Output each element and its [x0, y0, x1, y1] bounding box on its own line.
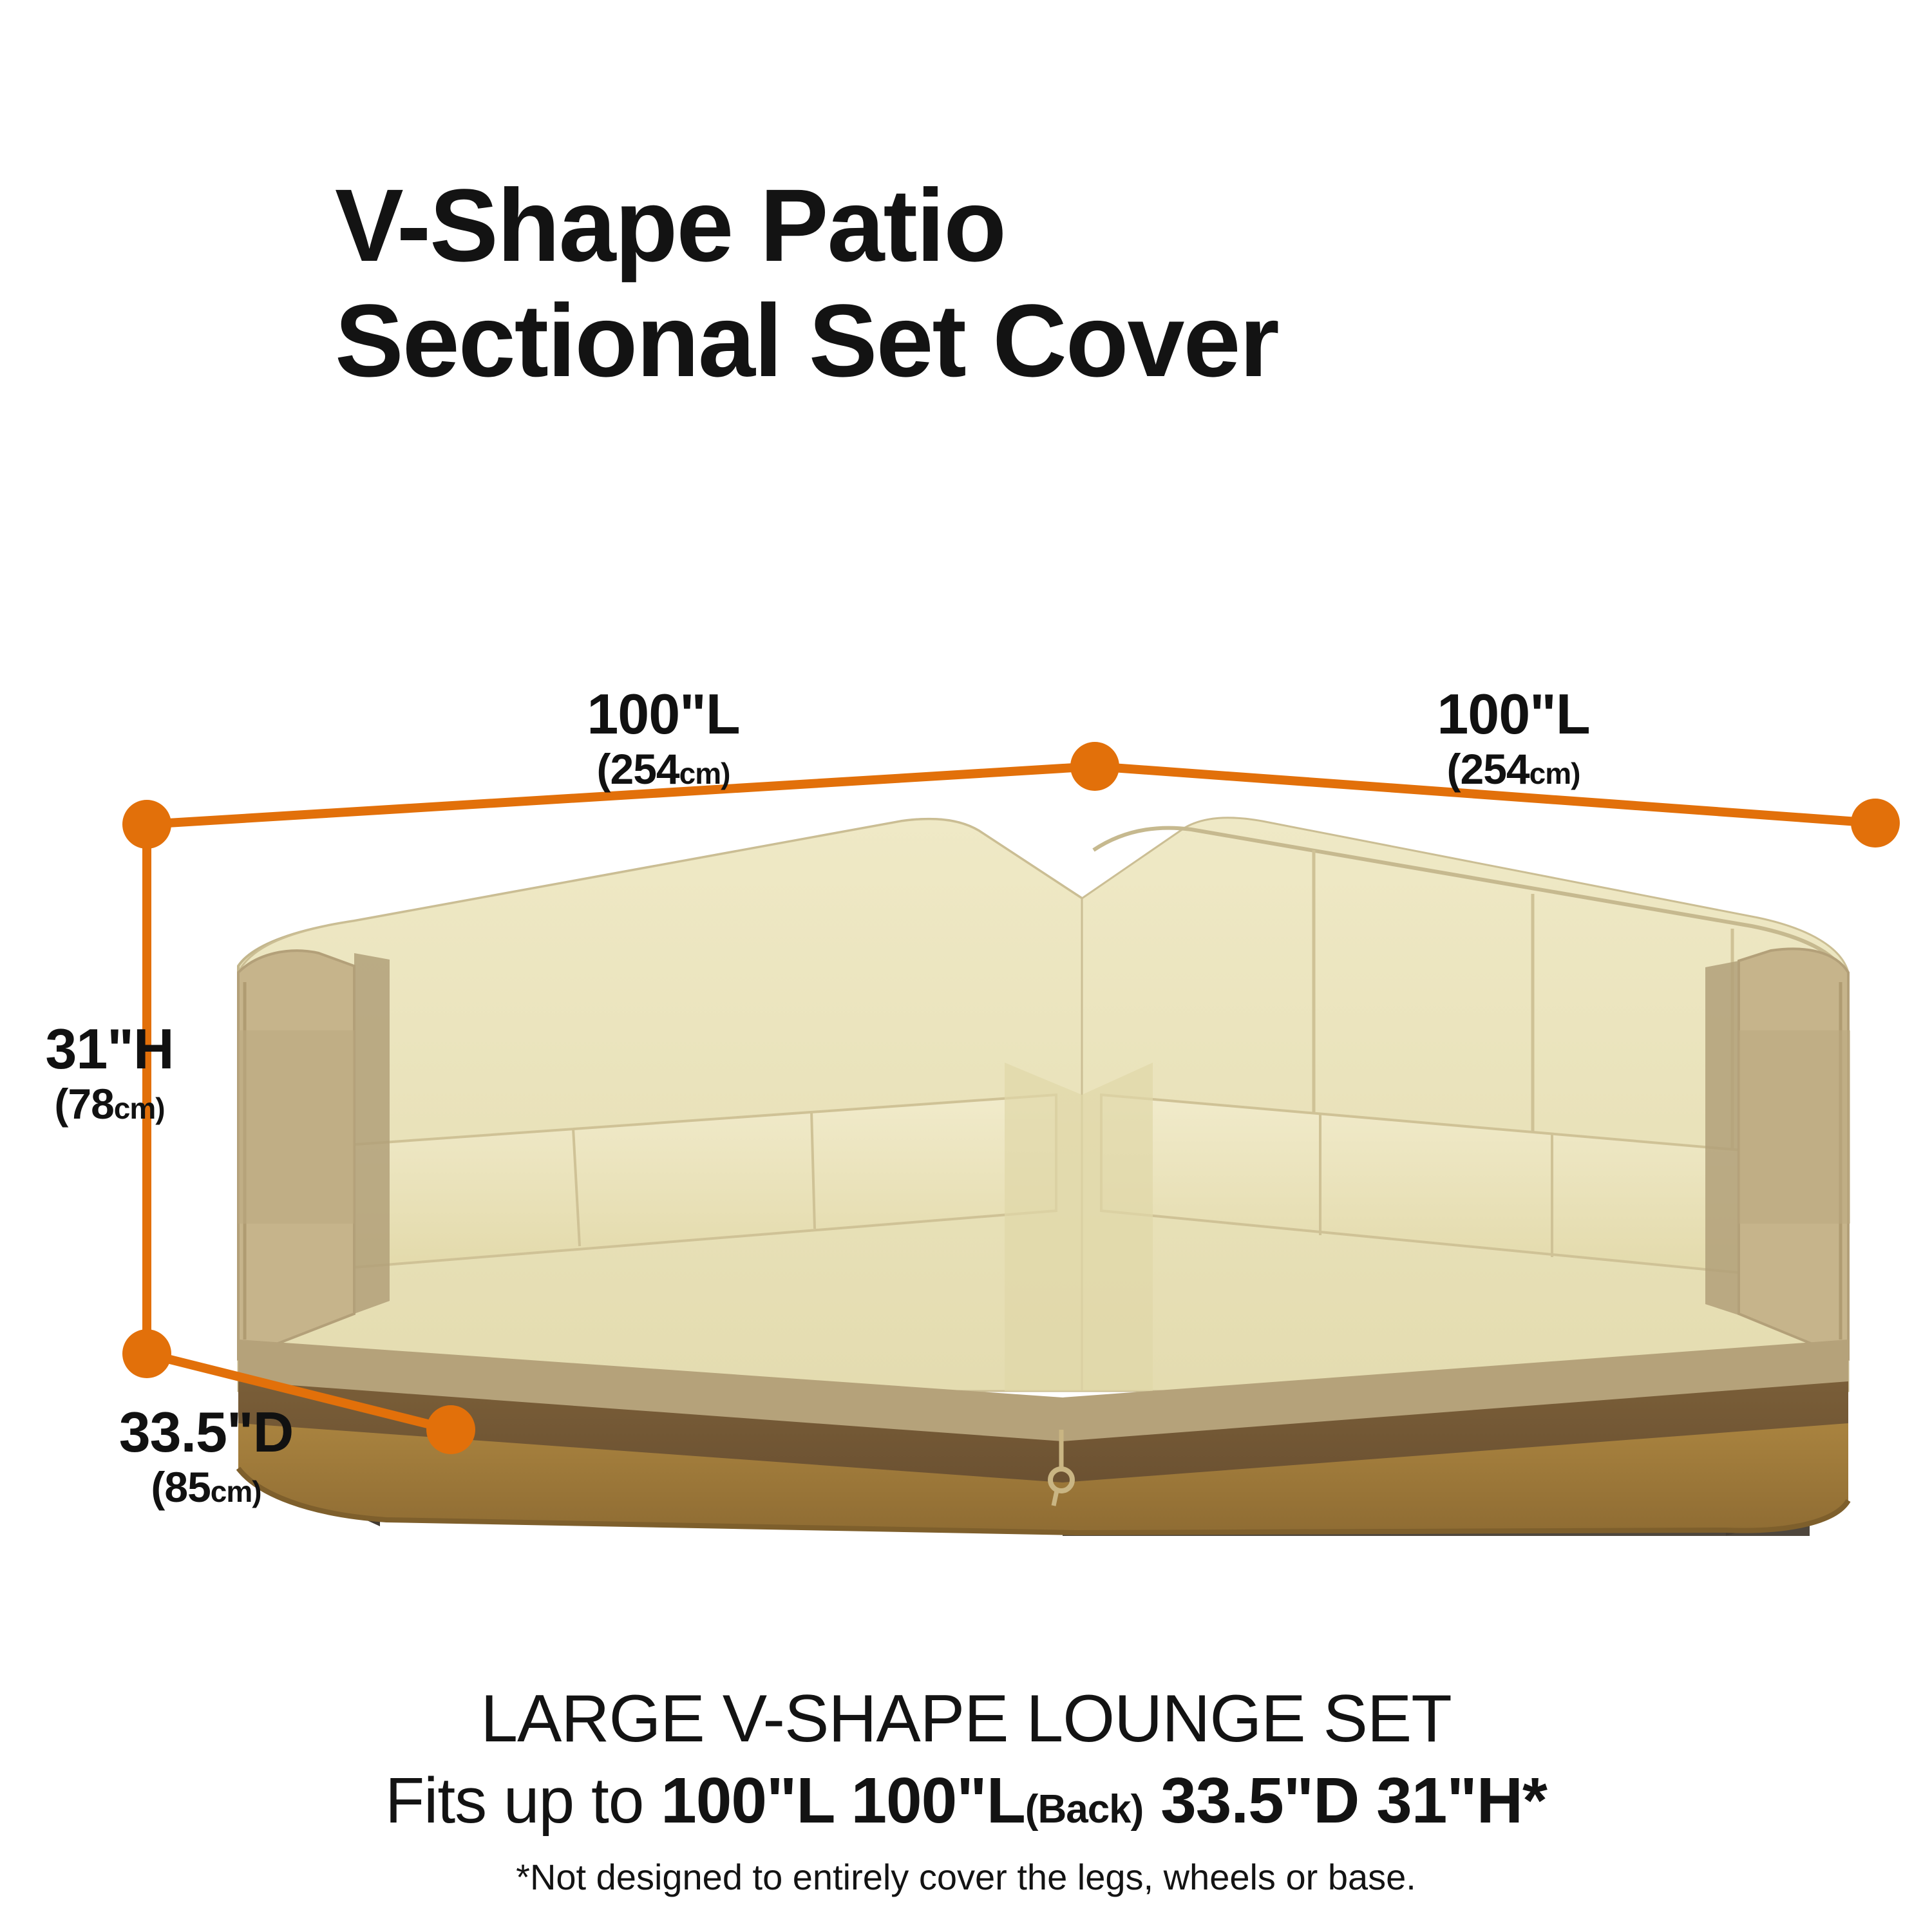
footer-fits-back: (Back) — [1025, 1787, 1144, 1832]
footer-product-name: LARGE V-SHAPE LOUNGE SET — [0, 1681, 1932, 1757]
dimension-label-length-left: 100"L (254cm) — [489, 686, 837, 790]
dimension-metric: (254cm) — [489, 748, 837, 790]
dimension-metric: (254cm) — [1340, 748, 1687, 790]
dimension-value: 100"L — [1340, 686, 1687, 743]
dimension-metric: (85cm) — [71, 1466, 341, 1508]
page-title-line-1: V-Shape Patio — [335, 167, 1752, 283]
page-title: V-Shape Patio Sectional Set Cover — [335, 167, 1752, 398]
dimension-label-length-right: 100"L (254cm) — [1340, 686, 1687, 790]
footer-fits-line: Fits up to 100"L 100"L(Back) 33.5"D 31"H… — [0, 1764, 1932, 1838]
product-illustration — [161, 760, 1900, 1565]
dimension-value: 100"L — [489, 686, 837, 743]
footer-fits-lengths: 100"L 100"L — [661, 1765, 1025, 1837]
footer-disclaimer: *Not designed to entirely cover the legs… — [0, 1856, 1932, 1898]
footer-fits-lead: Fits up to — [385, 1765, 661, 1837]
dimension-label-depth: 33.5"D (85cm) — [71, 1404, 341, 1508]
dimension-value: 33.5"D — [71, 1404, 341, 1461]
dimension-metric: (78cm) — [13, 1083, 206, 1125]
dimension-value: 31"H — [13, 1021, 206, 1077]
footer: LARGE V-SHAPE LOUNGE SET Fits up to 100"… — [0, 1681, 1932, 1898]
footer-fits-depth-height: 33.5"D 31"H* — [1143, 1765, 1547, 1837]
page-title-line-2: Sectional Set Cover — [335, 283, 1752, 398]
dimension-label-height: 31"H (78cm) — [13, 1021, 206, 1125]
